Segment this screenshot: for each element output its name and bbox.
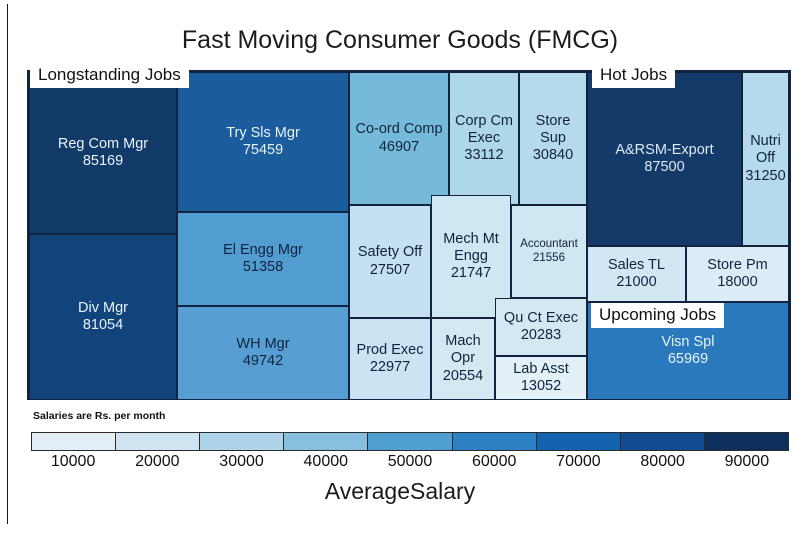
tile-value: 75459 bbox=[241, 142, 285, 159]
tile-value: 46907 bbox=[377, 139, 421, 156]
tile-label: Mech Mt Engg bbox=[432, 231, 510, 265]
colorbar-swatch bbox=[32, 433, 116, 450]
colorbar-swatch bbox=[368, 433, 452, 450]
treemap-tile[interactable]: Prod Exec22977 bbox=[349, 318, 431, 400]
colorbar-swatch bbox=[200, 433, 284, 450]
colorbar-tick-label: 70000 bbox=[536, 453, 620, 475]
tile-value: 20283 bbox=[519, 327, 563, 344]
colorbar-swatch bbox=[116, 433, 200, 450]
colorbar-tick-label: 80000 bbox=[621, 453, 705, 475]
tile-label: Div Mgr bbox=[76, 300, 130, 317]
chart-title: Fast Moving Consumer Goods (FMCG) bbox=[0, 26, 800, 55]
tile-value: 21000 bbox=[614, 274, 658, 291]
tile-value: 13052 bbox=[519, 378, 563, 395]
tile-label: Co-ord Comp bbox=[353, 121, 444, 138]
tile-label: Corp Cm Exec bbox=[450, 113, 518, 147]
treemap-tile[interactable]: El Engg Mgr51358 bbox=[177, 212, 349, 306]
treemap-tile[interactable]: Reg Com Mgr85169 bbox=[29, 72, 177, 234]
tile-label: Lab Asst bbox=[511, 361, 571, 378]
tile-label: Store Pm bbox=[705, 257, 769, 274]
group-label-longstanding-jobs: Longstanding Jobs bbox=[30, 63, 189, 88]
tile-value: 20554 bbox=[441, 368, 485, 385]
treemap-tile[interactable]: Store Sup30840 bbox=[519, 72, 587, 205]
treemap-tile[interactable]: Store Pm18000 bbox=[686, 246, 789, 302]
treemap-tile[interactable]: Accountant21556 bbox=[511, 205, 587, 298]
tile-value: 22977 bbox=[368, 359, 412, 376]
colorbar bbox=[31, 432, 789, 451]
treemap-tile[interactable]: Sales TL21000 bbox=[587, 246, 686, 302]
tile-value: 65969 bbox=[666, 351, 710, 368]
tile-value: 21747 bbox=[449, 265, 493, 282]
treemap-tile[interactable]: Corp Cm Exec33112 bbox=[449, 72, 519, 205]
chart-canvas: Fast Moving Consumer Goods (FMCG) Reg Co… bbox=[0, 0, 800, 533]
treemap-tile[interactable]: Nutri Off31250 bbox=[742, 72, 789, 246]
tile-value: 18000 bbox=[715, 274, 759, 291]
tile-label: WH Mgr bbox=[234, 336, 291, 353]
colorbar-swatch bbox=[705, 433, 788, 450]
colorbar-ticks: 1000020000300004000050000600007000080000… bbox=[31, 453, 789, 475]
tile-label: Prod Exec bbox=[355, 342, 426, 359]
treemap-tile[interactable]: Mach Opr20554 bbox=[431, 318, 495, 400]
tile-value: 51358 bbox=[241, 259, 285, 276]
tile-label: Mach Opr bbox=[432, 333, 494, 367]
group-label-upcoming-jobs: Upcoming Jobs bbox=[591, 303, 724, 328]
tile-value: 85169 bbox=[81, 153, 125, 170]
tile-label: Qu Ct Exec bbox=[502, 310, 580, 327]
treemap-tile[interactable]: A&RSM-Export87500 bbox=[587, 72, 742, 246]
tile-value: 33112 bbox=[462, 147, 505, 164]
figure-frame-line bbox=[7, 4, 8, 524]
colorbar-axis-label: AverageSalary bbox=[0, 478, 800, 505]
tile-label: A&RSM-Export bbox=[613, 142, 715, 159]
tile-label: Try Sls Mgr bbox=[224, 125, 302, 142]
colorbar-swatch bbox=[453, 433, 537, 450]
tile-value: 49742 bbox=[241, 353, 285, 370]
colorbar-tick-label: 40000 bbox=[284, 453, 368, 475]
treemap-plot: Reg Com Mgr85169Div Mgr81054Try Sls Mgr7… bbox=[27, 70, 791, 400]
tile-label: Accountant bbox=[518, 238, 580, 252]
colorbar-tick-label: 10000 bbox=[31, 453, 115, 475]
legend-note: Salaries are Rs. per month bbox=[33, 410, 165, 422]
tile-label: Nutri Off bbox=[743, 133, 788, 167]
tile-label: Visn Spl bbox=[660, 334, 717, 351]
tile-value: 21556 bbox=[531, 252, 567, 266]
treemap-tile[interactable]: Safety Off27507 bbox=[349, 205, 431, 318]
colorbar-tick-label: 50000 bbox=[368, 453, 452, 475]
colorbar-swatch bbox=[621, 433, 705, 450]
colorbar-swatch bbox=[284, 433, 368, 450]
colorbar-tick-label: 90000 bbox=[705, 453, 789, 475]
treemap-tile[interactable]: Qu Ct Exec20283 bbox=[495, 298, 587, 356]
tile-value: 31250 bbox=[743, 168, 787, 185]
colorbar-tick-label: 30000 bbox=[199, 453, 283, 475]
colorbar-tick-label: 20000 bbox=[115, 453, 199, 475]
tile-label: Safety Off bbox=[356, 244, 424, 261]
colorbar-swatch bbox=[537, 433, 621, 450]
treemap-tile[interactable]: Div Mgr81054 bbox=[29, 234, 177, 400]
treemap-tile[interactable]: Try Sls Mgr75459 bbox=[177, 72, 349, 212]
tile-label: Store Sup bbox=[520, 113, 586, 147]
tile-value: 30840 bbox=[531, 147, 575, 164]
treemap-tile[interactable]: Co-ord Comp46907 bbox=[349, 72, 449, 205]
group-label-hot-jobs: Hot Jobs bbox=[592, 63, 675, 88]
tile-value: 81054 bbox=[81, 317, 125, 334]
treemap-tile[interactable]: WH Mgr49742 bbox=[177, 306, 349, 400]
tile-label: El Engg Mgr bbox=[221, 242, 305, 259]
tile-label: Sales TL bbox=[606, 257, 667, 274]
tile-value: 87500 bbox=[642, 159, 686, 176]
tile-value: 27507 bbox=[368, 262, 412, 279]
colorbar-tick-label: 60000 bbox=[452, 453, 536, 475]
tile-label: Reg Com Mgr bbox=[56, 136, 150, 153]
treemap-tile[interactable]: Lab Asst13052 bbox=[495, 356, 587, 400]
